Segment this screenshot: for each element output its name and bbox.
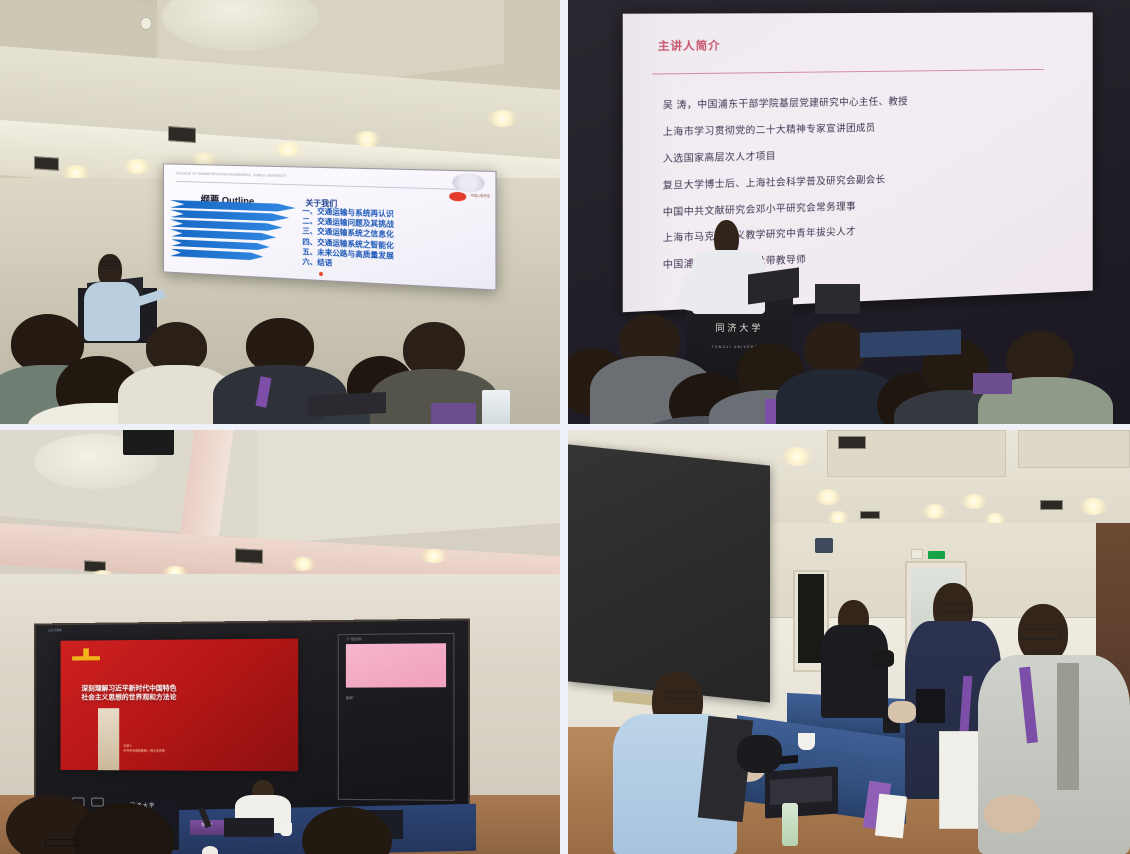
laptop-keyboard[interactable]: [770, 776, 832, 806]
papers: [875, 793, 907, 838]
ceiling-panel: [1018, 430, 1130, 468]
exit-sign-icon: [928, 551, 945, 559]
podium-name-cn: 同济大学: [686, 321, 793, 334]
water-bottle: [482, 390, 510, 424]
downlight-icon: [1079, 498, 1107, 515]
glasses-icon: [1020, 629, 1059, 640]
visitor-2-hand: [888, 701, 916, 722]
presentation-app-label: 幻灯片放映: [48, 628, 62, 632]
air-vent-icon: [1040, 500, 1062, 510]
downlight-icon: [827, 511, 849, 525]
society-logo-icon: [449, 192, 467, 202]
side-door-opening: [798, 574, 823, 663]
bio-slide-rule: [653, 68, 1044, 74]
desk-edge: [860, 329, 961, 358]
wall-speaker-icon: [815, 538, 833, 552]
next-slide-preview: [346, 643, 446, 686]
air-vent-icon: [34, 156, 59, 170]
lanyard: [765, 399, 776, 424]
visitor-1-holding-device: [871, 650, 893, 667]
bio-slide-title: 主讲人简介: [658, 37, 721, 54]
glasses-icon: [45, 839, 79, 845]
bio-line: 上海市学习贯彻党的二十大精神专家宣讲团成员: [663, 119, 876, 137]
desk-laptop: [815, 284, 860, 314]
glasses-icon: [102, 261, 120, 266]
downlight-icon: [815, 489, 840, 504]
notes-label: 备注栏: [346, 695, 354, 699]
photo-collage: COLLEGE OF TRANSPORTATION ENGINEERING, T…: [0, 0, 1130, 854]
bio-line: 复旦大学博士后、上海社会科学普及研究会副会长: [663, 171, 886, 191]
photo-bottom-right[interactable]: [568, 430, 1130, 854]
monument-graphic: [98, 708, 119, 771]
glasses-icon: [939, 604, 970, 613]
visitor-2-holding-phone: [916, 689, 944, 723]
paper-cup: [798, 733, 815, 750]
bio-line: 中国中共文献研究会邓小平研究会常务理事: [663, 198, 856, 218]
name-placard: [431, 403, 476, 424]
presenter-body: [84, 282, 140, 341]
wall-control-panel[interactable]: [911, 549, 923, 559]
air-vent-icon: [860, 511, 880, 519]
ppt-title: 深刻理解习近平新时代中国特色 社会主义思想的世界观和方法论: [81, 684, 176, 703]
blackboard: [568, 445, 770, 704]
photo-top-left[interactable]: COLLEGE OF TRANSPORTATION ENGINEERING, T…: [0, 0, 560, 424]
photo-top-right[interactable]: 主讲人简介 吴 涛，中国浦东干部学院基层党建研究中心主任、教授 上海市学习贯彻党…: [568, 0, 1130, 424]
slide-red-theme: 深刻理解习近平新时代中国特色 社会主义思想的世界观和方法论 主讲人 中共中央党校…: [61, 638, 299, 772]
paper-cup: [280, 823, 292, 836]
air-vent-icon: [838, 436, 866, 449]
bio-line: 入选国家高层次人才项目: [663, 147, 776, 164]
smoke-detector-icon: [140, 17, 152, 30]
air-vent-icon: [168, 126, 196, 143]
downlight-icon: [353, 131, 381, 146]
table-laptop: [224, 818, 274, 837]
glasses-icon: [664, 691, 698, 699]
backpack-strap: [1057, 663, 1079, 790]
ppt-subtitle: 主讲人 中共中央党校教授 × 博士生导师: [123, 744, 164, 752]
water-bottle: [782, 803, 799, 845]
university-seal-icon: [452, 174, 484, 194]
projection-screen-outline[interactable]: COLLEGE OF TRANSPORTATION ENGINEERING, T…: [163, 164, 496, 292]
society-logo-label: 中国公路学会: [471, 194, 490, 199]
party-emblem-icon: [72, 648, 100, 669]
slide-header-rule: [176, 181, 474, 190]
ceiling-panel-b: [258, 430, 560, 544]
next-slide-panel: 下一张幻灯片 备注栏: [338, 632, 454, 800]
downlight-icon: [961, 494, 986, 509]
camera-bag: [737, 735, 782, 773]
visitor-1-body: [821, 625, 888, 718]
downlight-icon: [291, 557, 316, 571]
visitor-3-hands: [984, 795, 1040, 833]
slide-item: 六、结语: [302, 256, 332, 268]
air-vent-icon: [235, 548, 263, 563]
bio-line: 上海市马克思主义教学研究中青年拔尖人才: [663, 224, 856, 245]
projector-icon: [123, 430, 173, 455]
photo-bottom-left[interactable]: 幻灯片放映 深刻理解习近平新时代中国特色 社会主义思想的世界观和方法论 主讲人 …: [0, 430, 560, 854]
next-slide-label: 下一张幻灯片: [346, 637, 362, 641]
bio-line: 吴 涛，中国浦东干部学院基层党建研究中心主任、教授: [663, 93, 908, 111]
name-placard: [973, 373, 1012, 394]
slide-bullet-dot: [319, 272, 323, 276]
downlight-icon: [420, 549, 448, 563]
downlight-icon: [782, 447, 813, 466]
